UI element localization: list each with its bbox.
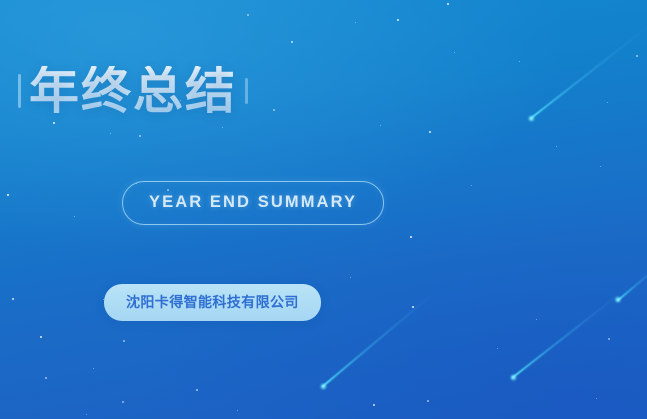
star-dot bbox=[471, 185, 472, 186]
star-dot bbox=[373, 404, 375, 406]
star-dot bbox=[93, 368, 94, 369]
star-dot bbox=[429, 131, 431, 133]
star-dot bbox=[380, 125, 381, 126]
meteor-icon bbox=[616, 262, 647, 302]
star-dot bbox=[427, 400, 429, 402]
title-tick-left-icon bbox=[18, 74, 21, 108]
star-dot bbox=[454, 52, 455, 53]
star-dot bbox=[40, 336, 42, 338]
star-dot bbox=[519, 61, 520, 62]
subtitle-pill: YEAR END SUMMARY bbox=[122, 181, 384, 225]
company-badge: 沈阳卡得智能科技有限公司 bbox=[104, 284, 321, 321]
star-dot bbox=[355, 22, 356, 23]
star-dot bbox=[12, 298, 14, 300]
star-dot bbox=[74, 216, 75, 217]
year-end-summary-slide: 年终总结 YEAR END SUMMARY 沈阳卡得智能科技有限公司 bbox=[0, 0, 647, 419]
star-dot bbox=[636, 55, 638, 57]
star-dot bbox=[410, 236, 412, 238]
star-dot bbox=[45, 377, 47, 379]
star-dot bbox=[123, 340, 125, 342]
star-dot bbox=[608, 338, 610, 340]
title-block: 年终总结 bbox=[18, 32, 248, 149]
star-dot bbox=[596, 398, 597, 399]
star-dot bbox=[497, 348, 498, 349]
star-dot bbox=[273, 109, 275, 111]
meteor-icon bbox=[321, 290, 437, 388]
star-dot bbox=[350, 277, 351, 278]
star-dot bbox=[447, 3, 449, 5]
star-dot bbox=[247, 14, 249, 16]
star-dot bbox=[412, 306, 414, 308]
meteor-icon bbox=[511, 290, 624, 379]
star-dot bbox=[607, 102, 608, 103]
star-dot bbox=[291, 41, 293, 43]
page-title: 年终总结 bbox=[29, 66, 237, 116]
star-dot bbox=[397, 19, 399, 21]
star-dot bbox=[237, 410, 238, 411]
star-dot bbox=[536, 319, 537, 320]
star-dot bbox=[600, 166, 601, 167]
meteor-icon bbox=[529, 25, 647, 120]
star-dot bbox=[556, 146, 557, 147]
star-dot bbox=[7, 194, 9, 196]
star-dot bbox=[122, 401, 124, 403]
star-dot bbox=[86, 414, 87, 415]
title-tick-right-icon bbox=[245, 78, 248, 104]
star-dot bbox=[196, 389, 198, 391]
